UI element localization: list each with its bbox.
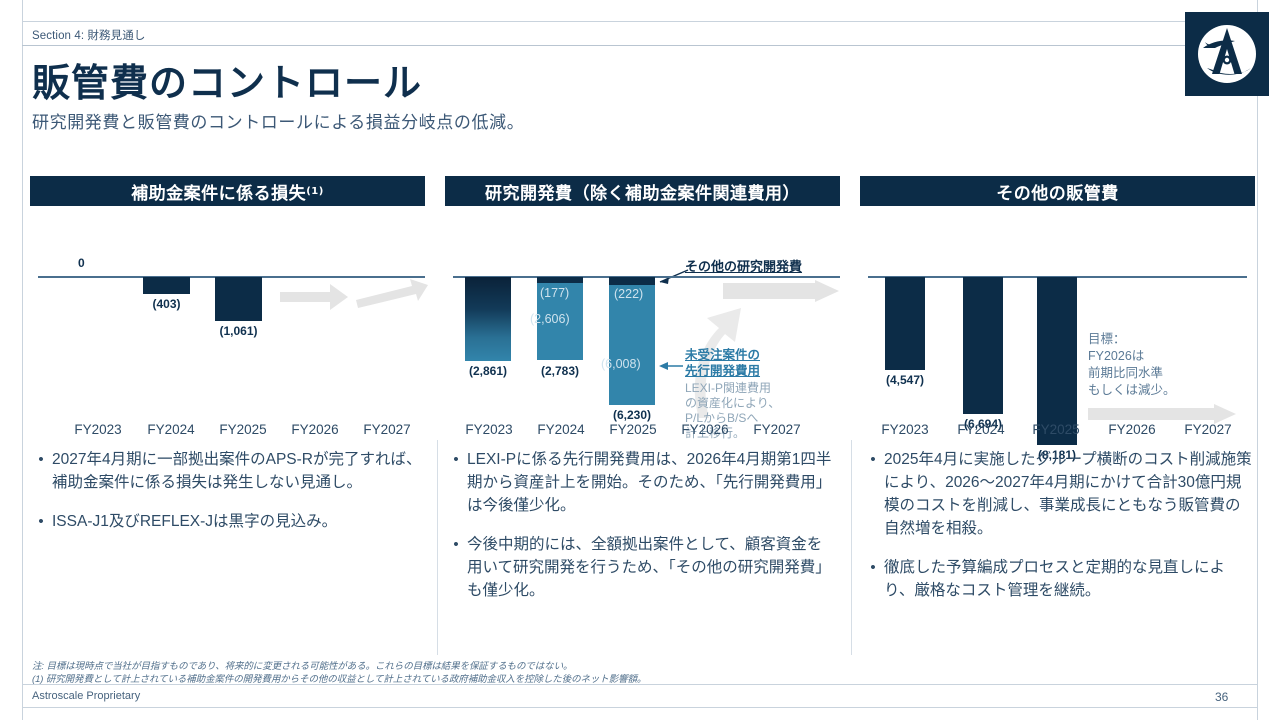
bar-total-label-fy2023: (2,861) [459, 364, 517, 378]
straight-arrow-right-icon [280, 278, 425, 320]
frame-left-border [22, 0, 23, 720]
plot-area-rnd-expense: その他の研究開発費 (2,861) (177) (2,606) (2,783) [445, 218, 840, 433]
column-divider-1 [437, 440, 438, 655]
top-rule [22, 21, 1258, 22]
astroscale-logo-mark [1185, 12, 1269, 96]
bar-fy2023 [465, 277, 511, 361]
axis-label-fy2024: FY2024 [537, 422, 584, 437]
bar-fy2025 [1037, 277, 1077, 445]
bar-fy2025 [215, 277, 262, 321]
section-rule [22, 45, 1258, 46]
plot-area-subsidy-loss: 0 (403) (1,061) [30, 218, 425, 433]
bullet-dot-icon: • [445, 448, 467, 517]
section-eyebrow: Section 4: 財務見通し [32, 27, 145, 43]
chart-panel-subsidy-loss: 補助金案件に係る損失(1) 0 (403) (1,061) FY2023 FY2… [30, 176, 425, 433]
slide: Section 4: 財務見通し 販管費のコントロール 研究開発費と販管費のコン… [0, 0, 1280, 720]
axis-label-fy2025: FY2025 [1032, 422, 1079, 437]
x-axis-subsidy-loss: FY2023 FY2024 FY2025 FY2026 FY2027 [30, 422, 425, 442]
bar-segment-label-fy2025-other: (222) [614, 287, 643, 301]
axis-label-fy2026: FY2026 [681, 422, 728, 437]
chart-title-text: 補助金案件に係る損失 [131, 179, 306, 204]
axis-label-fy2027: FY2027 [1184, 422, 1231, 437]
list-item: • ISSA-J1及びREFLEX-Jは黒字の見込み。 [30, 510, 422, 533]
axis-label-fy2026: FY2026 [291, 422, 338, 437]
callout-pointer-arrow-icon [657, 359, 683, 373]
astroscale-logo [1185, 12, 1269, 96]
bullet-dot-icon: • [30, 448, 52, 494]
page-title: 販管費のコントロール [32, 52, 422, 107]
chart-panel-other-sga: その他の販管費 (4,547) (6,694) (8,181) 目標： FY20… [860, 176, 1255, 433]
bullet-dot-icon: • [30, 510, 52, 533]
bar-segment-label-fy2025-advance: (6,008) [601, 357, 641, 371]
axis-label-fy2025: FY2025 [219, 422, 266, 437]
bar-fy2025-advance-dev [609, 285, 655, 405]
frame-right-border [1257, 0, 1258, 720]
bullet-text: 2025年4月に実施したグループ横断のコスト削減施策により、2026〜2027年… [884, 448, 1252, 540]
callout-advance-dev-body-line1: LEXI-P関連費用 [685, 381, 771, 396]
bar-fy2023 [885, 277, 925, 370]
bar-fy2024 [963, 277, 1003, 414]
bullet-list-col3: • 2025年4月に実施したグループ横断のコスト削減施策により、2026〜202… [862, 448, 1252, 618]
bullet-dot-icon: • [445, 533, 467, 602]
list-item: • 今後中期的には、全額拠出案件として、顧客資金を用いて研究開発を行うため、「そ… [445, 533, 837, 602]
bullet-list-col1: • 2027年4月期に一部拠出案件のAPS-Rが完了すれば、補助金案件に係る損失… [30, 448, 422, 549]
column-divider-2 [851, 440, 852, 655]
axis-label-fy2027: FY2027 [363, 422, 410, 437]
x-axis-rnd-expense: FY2023 FY2024 FY2025 FY2026 FY2027 [445, 422, 840, 442]
axis-label-fy2024: FY2024 [147, 422, 194, 437]
straight-arrow-right-icon [723, 280, 841, 306]
axis-label-fy2026: FY2026 [1108, 422, 1155, 437]
bullet-text: LEXI-Pに係る先行開発費用は、2026年4月期第1四半期から資産計上を開始。… [467, 448, 837, 517]
callout-advance-dev-body-line2: の資産化により、 [685, 396, 780, 411]
page-subtitle: 研究開発費と販管費のコントロールによる損益分岐点の低減。 [32, 108, 524, 133]
axis-label-fy2024: FY2024 [957, 422, 1004, 437]
bar-segment-label-fy2024-advance: (2,606) [530, 312, 570, 326]
bullet-text: 徹底した予算編成プロセスと定期的な見直しにより、厳格なコスト管理を継続。 [884, 556, 1252, 602]
bar-fy2024 [143, 277, 190, 294]
bar-segment-label-fy2024-other: (177) [540, 286, 569, 300]
footer-rule-top [22, 684, 1258, 685]
bullet-list-col2: • LEXI-Pに係る先行開発費用は、2026年4月期第1四半期から資産計上を開… [445, 448, 837, 618]
callout-advance-dev-title-line1: 未受注案件の [685, 348, 760, 363]
bullet-text: 今後中期的には、全額拠出案件として、顧客資金を用いて研究開発を行うため、「その他… [467, 533, 837, 602]
list-item: • 2027年4月期に一部拠出案件のAPS-Rが完了すれば、補助金案件に係る損失… [30, 448, 422, 494]
chart-title-footnote-marker: (1) [306, 186, 324, 197]
bullet-dot-icon: • [862, 556, 884, 602]
chart-title-text: 研究開発費（除く補助金案件関連費用） [485, 179, 800, 204]
axis-label-fy2023: FY2023 [74, 422, 121, 437]
list-item: • LEXI-Pに係る先行開発費用は、2026年4月期第1四半期から資産計上を開… [445, 448, 837, 517]
callout-advance-dev-title-line2: 先行開発費用 [685, 364, 760, 379]
list-item: • 2025年4月に実施したグループ横断のコスト削減施策により、2026〜202… [862, 448, 1252, 540]
zero-axis-label: 0 [78, 256, 85, 270]
chart-title-other-sga: その他の販管費 [860, 176, 1255, 206]
chart-title-text: その他の販管費 [996, 179, 1119, 204]
bar-label-fy2023: (4,547) [876, 373, 934, 387]
page-number: 36 [1215, 690, 1228, 704]
bullet-text: ISSA-J1及びREFLEX-Jは黒字の見込み。 [52, 510, 422, 533]
chart-title-rnd-expense: 研究開発費（除く補助金案件関連費用） [445, 176, 840, 206]
bar-label-fy2025: (1,061) [210, 324, 267, 338]
bar-fy2025-other-rnd [609, 277, 655, 285]
chart-panel-rnd-expense: 研究開発費（除く補助金案件関連費用） その他の研究開発費 (2,861) [445, 176, 840, 433]
axis-label-fy2027: FY2027 [753, 422, 800, 437]
target-note-line2: FY2026は [1088, 348, 1144, 365]
bullet-dot-icon: • [862, 448, 884, 540]
list-item: • 徹底した予算編成プロセスと定期的な見直しにより、厳格なコスト管理を継続。 [862, 556, 1252, 602]
plot-area-other-sga: (4,547) (6,694) (8,181) 目標： FY2026は 前期比同… [860, 218, 1255, 433]
target-note-line4: もしくは減少。 [1088, 382, 1176, 399]
axis-label-fy2023: FY2023 [881, 422, 928, 437]
chart-title-subsidy-loss: 補助金案件に係る損失(1) [30, 176, 425, 206]
target-note-line1: 目標： [1088, 331, 1126, 348]
bar-total-label-fy2025: (6,230) [603, 408, 661, 422]
footnote-general: 注: 目標は現時点で当社が目指すものであり、将来的に変更される可能性がある。これ… [32, 658, 572, 672]
bar-label-fy2024: (403) [143, 297, 190, 311]
footnote-1: (1) 研究開発費として計上されている補助金案件の開発費用からその他の収益として… [32, 671, 646, 685]
proprietary-notice: Astroscale Proprietary [32, 690, 140, 702]
callout-other-rnd: その他の研究開発費 [685, 256, 802, 275]
footer-rule-bottom [22, 707, 1258, 708]
bullet-text: 2027年4月期に一部拠出案件のAPS-Rが完了すれば、補助金案件に係る損失は発… [52, 448, 422, 494]
bar-total-label-fy2024: (2,783) [531, 364, 589, 378]
axis-label-fy2025: FY2025 [609, 422, 656, 437]
x-axis-other-sga: FY2023 FY2024 FY2025 FY2026 FY2027 [860, 422, 1255, 442]
target-note-line3: 前期比同水準 [1088, 365, 1163, 382]
axis-label-fy2023: FY2023 [465, 422, 512, 437]
